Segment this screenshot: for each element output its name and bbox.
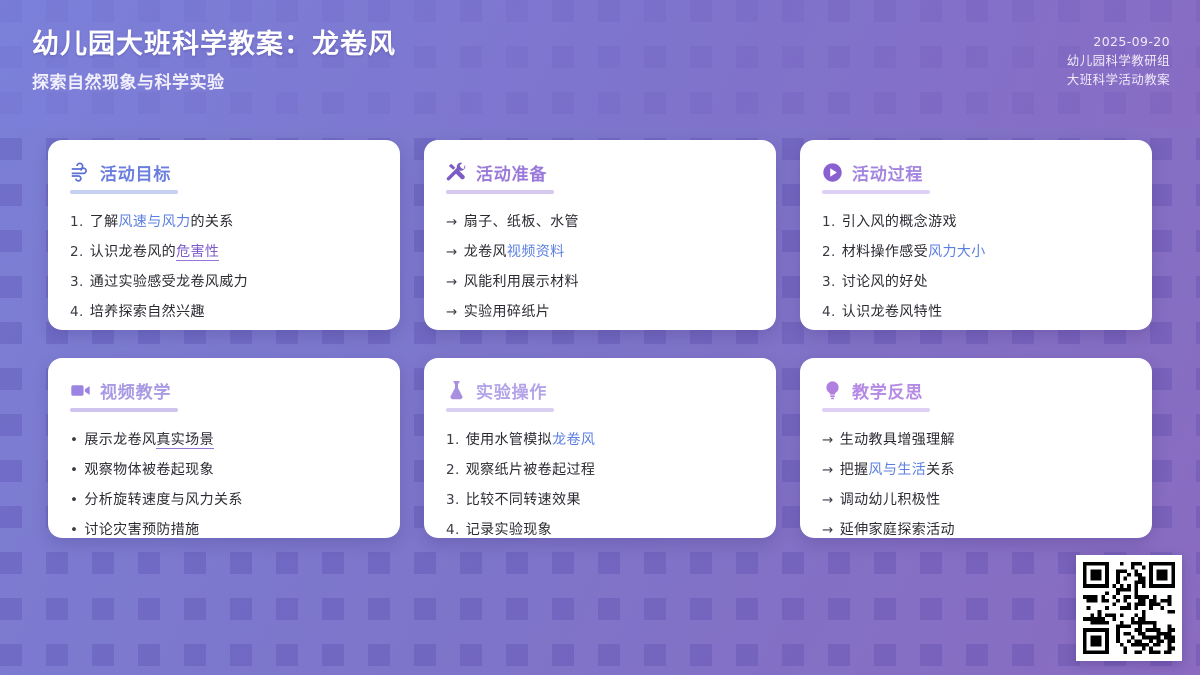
list-item-marker: 3. <box>446 485 460 515</box>
list-item[interactable]: 4. 培养探索自然兴趣 <box>70 297 378 327</box>
list-item[interactable]: 2. 材料操作感受风力大小 <box>822 237 1130 267</box>
list-item[interactable]: → 扇子、纸板、水管 <box>446 207 754 237</box>
list-item-text-pre: 实验用碎纸片 <box>464 304 550 320</box>
tools-icon <box>446 162 467 183</box>
card-title: 活动目标 <box>100 160 171 185</box>
list-item-marker: 4. <box>70 297 84 327</box>
card-activity-process[interactable]: 活动过程 1. 引入风的概念游戏 2. 材料操作感受风力大小 3. 讨论风的好处… <box>800 140 1152 330</box>
list-item-text: 记录实验现象 <box>466 515 552 538</box>
card-title-rule <box>446 408 554 412</box>
list-item-marker: → <box>446 297 458 327</box>
list-item-text-pre: 了解 <box>90 214 119 230</box>
list-item-highlight: 视频资料 <box>507 244 565 260</box>
list-item-text-pre: 使用水管模拟 <box>466 432 552 448</box>
list-item-marker: 4. <box>446 515 460 538</box>
list-item-marker: → <box>822 425 834 455</box>
flask-icon <box>446 380 467 401</box>
card-list: 1. 引入风的概念游戏 2. 材料操作感受风力大小 3. 讨论风的好处 4. 认… <box>822 207 1130 327</box>
card-list: → 生动教具增强理解 → 把握风与生活关系 → 调动幼儿积极性 → 延伸家庭探索… <box>822 425 1130 538</box>
list-item-text-pre: 通过实验感受龙卷风威力 <box>90 274 248 290</box>
list-item-marker: 4. <box>822 297 836 327</box>
list-item-text: 了解风速与风力的关系 <box>90 207 234 237</box>
list-item-text: 分析旋转速度与风力关系 <box>84 485 242 515</box>
list-item-text: 生动教具增强理解 <box>840 425 955 455</box>
list-item-text-pre: 龙卷风 <box>464 244 507 260</box>
list-item-highlight: 风与生活 <box>869 462 927 478</box>
list-item-text-pre: 风能利用展示材料 <box>464 274 579 290</box>
list-item-marker: 1. <box>446 425 460 455</box>
list-item-highlight: 危害性 <box>176 244 219 261</box>
card-list: 1. 使用水管模拟龙卷风 2. 观察纸片被卷起过程 3. 比较不同转速效果 4.… <box>446 425 754 538</box>
card-title: 视频教学 <box>100 378 171 403</box>
list-item-marker: → <box>822 515 834 538</box>
card-video-teaching[interactable]: 视频教学 • 展示龙卷风真实场景 • 观察物体被卷起现象 • 分析旋转速度与风力… <box>48 358 400 538</box>
card-title: 活动过程 <box>852 160 923 185</box>
list-item-text-pre: 讨论风的好处 <box>842 274 928 290</box>
card-header: 活动准备 <box>446 160 754 185</box>
list-item-text: 龙卷风视频资料 <box>464 237 565 267</box>
card-header: 视频教学 <box>70 378 378 403</box>
list-item-highlight: 风力大小 <box>928 244 986 260</box>
list-item[interactable]: 1. 了解风速与风力的关系 <box>70 207 378 237</box>
list-item-text: 认识龙卷风的危害性 <box>90 237 220 267</box>
list-item[interactable]: → 调动幼儿积极性 <box>822 485 1130 515</box>
list-item[interactable]: → 延伸家庭探索活动 <box>822 515 1130 538</box>
list-item-marker: 1. <box>822 207 836 237</box>
list-item-text-pre: 认识龙卷风的 <box>90 244 176 260</box>
list-item-text: 使用水管模拟龙卷风 <box>466 425 596 455</box>
list-item-text: 观察物体被卷起现象 <box>84 455 214 485</box>
header-text-group: 幼儿园大班科学教案：龙卷风 探索自然现象与科学实验 <box>32 26 396 98</box>
lightbulb-icon <box>822 380 843 401</box>
list-item-marker: → <box>822 455 834 485</box>
list-item-marker: 3. <box>70 267 84 297</box>
list-item-text-pre: 讨论灾害预防措施 <box>84 522 199 538</box>
list-item-text-pre: 延伸家庭探索活动 <box>840 522 955 538</box>
list-item-text: 比较不同转速效果 <box>466 485 581 515</box>
page-subtitle: 探索自然现象与科学实验 <box>32 68 396 98</box>
header-organization: 幼儿园科学教研组 <box>1067 51 1170 70</box>
list-item-text-pre: 引入风的概念游戏 <box>842 214 957 230</box>
page-title: 幼儿园大班科学教案：龙卷风 <box>32 26 396 64</box>
list-item-text: 通过实验感受龙卷风威力 <box>90 267 248 297</box>
list-item[interactable]: 3. 通过实验感受龙卷风威力 <box>70 267 378 297</box>
list-item-text-pre: 材料操作感受 <box>842 244 928 260</box>
card-header: 实验操作 <box>446 378 754 403</box>
list-item-text: 展示龙卷风真实场景 <box>84 425 214 455</box>
list-item[interactable]: • 展示龙卷风真实场景 <box>70 425 378 455</box>
list-item-marker: 2. <box>70 237 84 267</box>
list-item-marker: • <box>70 485 78 515</box>
list-item-marker: → <box>446 207 458 237</box>
card-title-rule <box>70 408 178 412</box>
list-item-marker: 3. <box>822 267 836 297</box>
slide-root: 幼儿园大班科学教案：龙卷风 探索自然现象与科学实验 2025-09-20 幼儿园… <box>0 0 1200 675</box>
card-title-rule <box>446 190 554 194</box>
list-item-text-pre: 记录实验现象 <box>466 522 552 538</box>
card-grid: 活动目标 1. 了解风速与风力的关系 2. 认识龙卷风的危害性 3. 通过实验感… <box>48 140 1152 538</box>
list-item-text-post: 的关系 <box>191 214 234 230</box>
qr-code <box>1083 562 1175 654</box>
list-item-text: 培养探索自然兴趣 <box>90 297 205 327</box>
list-item-text: 实验用碎纸片 <box>464 297 550 327</box>
list-item[interactable]: • 观察物体被卷起现象 <box>70 455 378 485</box>
list-item-text-pre: 观察物体被卷起现象 <box>84 462 214 478</box>
header-doc-type: 大班科学活动教案 <box>1067 70 1170 89</box>
list-item-marker: 2. <box>446 455 460 485</box>
list-item-marker: 1. <box>70 207 84 237</box>
list-item[interactable]: • 分析旋转速度与风力关系 <box>70 485 378 515</box>
wind-icon <box>70 162 91 183</box>
list-item[interactable]: 3. 讨论风的好处 <box>822 267 1130 297</box>
list-item-text-post: 关系 <box>926 462 955 478</box>
list-item-text-pre: 比较不同转速效果 <box>466 492 581 508</box>
list-item-marker: • <box>70 515 78 538</box>
card-header: 教学反思 <box>822 378 1130 403</box>
card-activity-goals[interactable]: 活动目标 1. 了解风速与风力的关系 2. 认识龙卷风的危害性 3. 通过实验感… <box>48 140 400 330</box>
card-title-rule <box>70 190 178 194</box>
list-item-text: 材料操作感受风力大小 <box>842 237 986 267</box>
list-item-text: 讨论灾害预防措施 <box>84 515 199 538</box>
card-title-rule <box>822 408 930 412</box>
list-item[interactable]: → 龙卷风视频资料 <box>446 237 754 267</box>
list-item[interactable]: → 把握风与生活关系 <box>822 455 1130 485</box>
list-item-highlight: 真实场景 <box>156 432 214 449</box>
slide-header: 幼儿园大班科学教案：龙卷风 探索自然现象与科学实验 2025-09-20 幼儿园… <box>0 0 1200 128</box>
list-item-marker: → <box>446 267 458 297</box>
card-header: 活动过程 <box>822 160 1130 185</box>
card-activity-preparation[interactable]: 活动准备 → 扇子、纸板、水管 → 龙卷风视频资料 → 风能利用展示材料 → 实… <box>424 140 776 330</box>
list-item[interactable]: • 讨论灾害预防措施 <box>70 515 378 538</box>
card-list: • 展示龙卷风真实场景 • 观察物体被卷起现象 • 分析旋转速度与风力关系 • … <box>70 425 378 538</box>
list-item-marker: → <box>822 485 834 515</box>
list-item-marker: • <box>70 425 78 455</box>
list-item[interactable]: → 风能利用展示材料 <box>446 267 754 297</box>
list-item-text: 调动幼儿积极性 <box>840 485 941 515</box>
card-title: 教学反思 <box>852 378 923 403</box>
list-item-text: 观察纸片被卷起过程 <box>466 455 596 485</box>
card-experiment-operation[interactable]: 实验操作 1. 使用水管模拟龙卷风 2. 观察纸片被卷起过程 3. 比较不同转速… <box>424 358 776 538</box>
list-item-highlight: 龙卷风 <box>552 432 595 448</box>
list-item-text: 延伸家庭探索活动 <box>840 515 955 538</box>
list-item-text: 风能利用展示材料 <box>464 267 579 297</box>
list-item[interactable]: → 实验用碎纸片 <box>446 297 754 327</box>
list-item[interactable]: 4. 认识龙卷风特性 <box>822 297 1130 327</box>
card-title: 活动准备 <box>476 160 547 185</box>
list-item[interactable]: 2. 认识龙卷风的危害性 <box>70 237 378 267</box>
list-item-text: 认识龙卷风特性 <box>842 297 943 327</box>
list-item[interactable]: 1. 使用水管模拟龙卷风 <box>446 425 754 455</box>
list-item-text-pre: 调动幼儿积极性 <box>840 492 941 508</box>
header-meta-group: 2025-09-20 幼儿园科学教研组 大班科学活动教案 <box>1067 32 1170 89</box>
qr-code-box[interactable] <box>1076 555 1182 661</box>
list-item-text-pre: 展示龙卷风 <box>84 432 156 448</box>
list-item-text-pre: 培养探索自然兴趣 <box>90 304 205 320</box>
list-item-text: 把握风与生活关系 <box>840 455 955 485</box>
card-title: 实验操作 <box>476 378 547 403</box>
list-item-text: 引入风的概念游戏 <box>842 207 957 237</box>
list-item-marker: → <box>446 237 458 267</box>
list-item-text-pre: 把握 <box>840 462 869 478</box>
list-item[interactable]: 4. 记录实验现象 <box>446 515 754 538</box>
header-date: 2025-09-20 <box>1067 32 1170 51</box>
list-item-marker: • <box>70 455 78 485</box>
list-item-text-pre: 认识龙卷风特性 <box>842 304 943 320</box>
video-camera-icon <box>70 380 91 401</box>
card-list: 1. 了解风速与风力的关系 2. 认识龙卷风的危害性 3. 通过实验感受龙卷风威… <box>70 207 378 327</box>
list-item[interactable]: → 生动教具增强理解 <box>822 425 1130 455</box>
list-item-text-pre: 扇子、纸板、水管 <box>464 214 579 230</box>
list-item-text-pre: 观察纸片被卷起过程 <box>466 462 596 478</box>
list-item[interactable]: 3. 比较不同转速效果 <box>446 485 754 515</box>
list-item-marker: 2. <box>822 237 836 267</box>
list-item-text: 讨论风的好处 <box>842 267 928 297</box>
play-circle-icon <box>822 162 843 183</box>
card-list: → 扇子、纸板、水管 → 龙卷风视频资料 → 风能利用展示材料 → 实验用碎纸片 <box>446 207 754 327</box>
list-item-highlight: 风速与风力 <box>119 214 191 230</box>
list-item-text-pre: 生动教具增强理解 <box>840 432 955 448</box>
card-teaching-reflection[interactable]: 教学反思 → 生动教具增强理解 → 把握风与生活关系 → 调动幼儿积极性 → 延… <box>800 358 1152 538</box>
list-item-text: 扇子、纸板、水管 <box>464 207 579 237</box>
list-item-text-pre: 分析旋转速度与风力关系 <box>84 492 242 508</box>
list-item[interactable]: 2. 观察纸片被卷起过程 <box>446 455 754 485</box>
list-item[interactable]: 1. 引入风的概念游戏 <box>822 207 1130 237</box>
card-header: 活动目标 <box>70 160 378 185</box>
card-title-rule <box>822 190 930 194</box>
